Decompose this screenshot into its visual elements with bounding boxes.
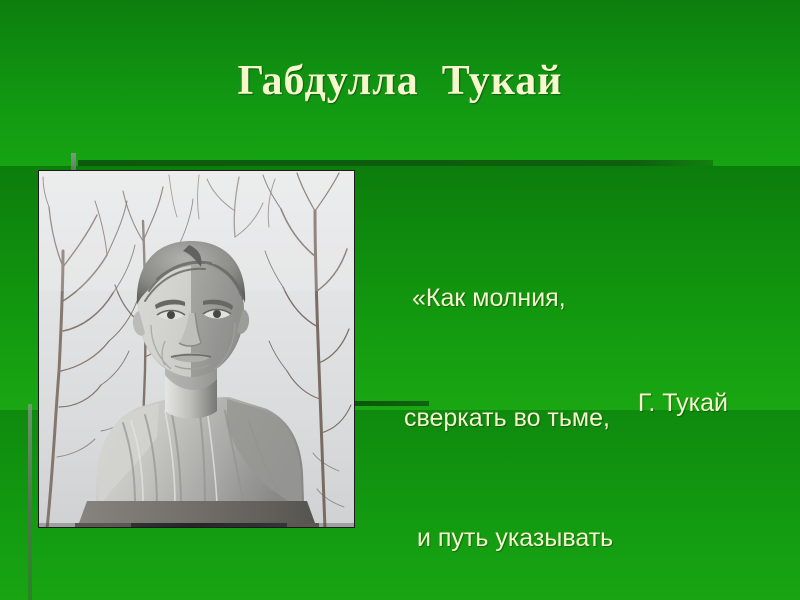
quote-attribution: Г. Тукай — [398, 386, 728, 420]
page-title: Габдулла Тукай — [0, 57, 800, 105]
divider-tick-top — [71, 153, 76, 171]
monument-bust-photo — [38, 170, 355, 528]
photo-canvas — [39, 171, 354, 527]
divider-tick-left — [28, 404, 32, 600]
divider-rule-top — [78, 160, 713, 166]
slide: Габдулла Тукай — [0, 0, 800, 600]
monument-bust-illustration — [39, 171, 354, 527]
quote-line-3: и путь указывать — [398, 518, 768, 558]
quote-line-1: «Как молния, — [398, 278, 768, 318]
